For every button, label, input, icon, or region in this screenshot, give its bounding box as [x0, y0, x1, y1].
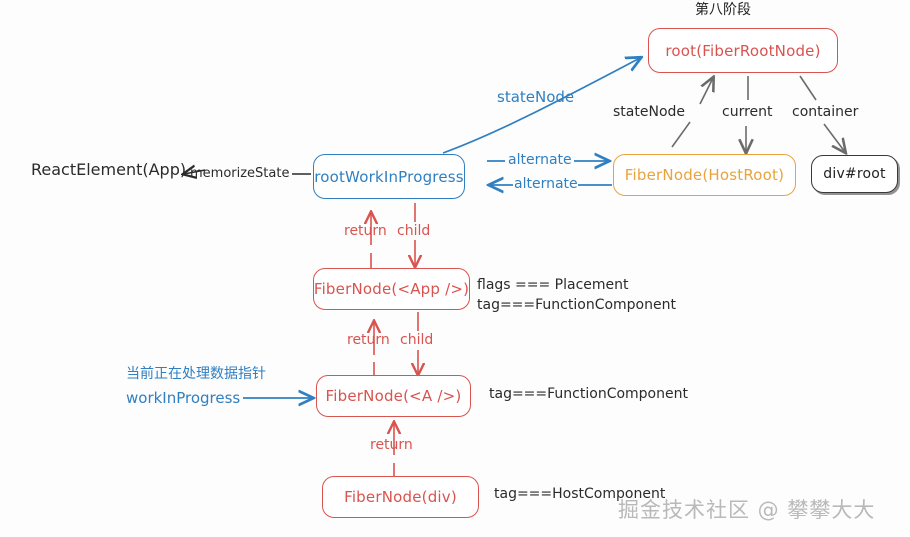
label-current: current	[722, 104, 773, 122]
label-statenode-gray: stateNode	[613, 104, 685, 122]
node-fiber-div[interactable]: FiberNode(div)	[322, 476, 479, 518]
label-child-2: child	[400, 332, 433, 350]
label-child-1: child	[397, 223, 430, 241]
label-return-2: return	[347, 332, 390, 350]
label-alternate-left: alternate	[514, 176, 578, 194]
label-return-1: return	[344, 223, 387, 241]
annotation-a-tag: tag===FunctionComponent	[489, 386, 688, 404]
node-div-root[interactable]: div#root	[811, 155, 898, 193]
node-fiber-a[interactable]: FiberNode(<A />)	[316, 375, 471, 417]
node-fiber-host-root[interactable]: FiberNode(HostRoot)	[613, 154, 796, 196]
label-return-3: return	[370, 437, 413, 455]
label-react-element-app: ReactElement(App)	[31, 160, 186, 180]
node-root-work-in-progress[interactable]: rootWorkInProgress	[313, 154, 465, 199]
label-statenode-blue: stateNode	[497, 88, 574, 107]
node-fiber-root-node[interactable]: root(FiberRootNode)	[648, 28, 838, 73]
annotation-wip-note-cn: 当前正在处理数据指针	[126, 366, 266, 384]
annotation-app-tag: tag===FunctionComponent	[477, 297, 676, 315]
label-alternate-right: alternate	[508, 152, 572, 170]
label-memorize-state: memorizeState	[190, 166, 289, 182]
watermark: 掘金技术社区 @ 攀攀大大	[618, 494, 875, 524]
label-container: container	[792, 104, 858, 122]
annotation-app-flags: flags === Placement	[477, 277, 629, 295]
node-fiber-app[interactable]: FiberNode(<App />)	[313, 268, 470, 310]
diagram-canvas: 第八阶段 root(FiberRootNode) rootWorkInProgr…	[0, 0, 910, 537]
annotation-wip-note-en: workInProgress	[126, 389, 240, 408]
diagram-title: 第八阶段	[695, 2, 751, 20]
